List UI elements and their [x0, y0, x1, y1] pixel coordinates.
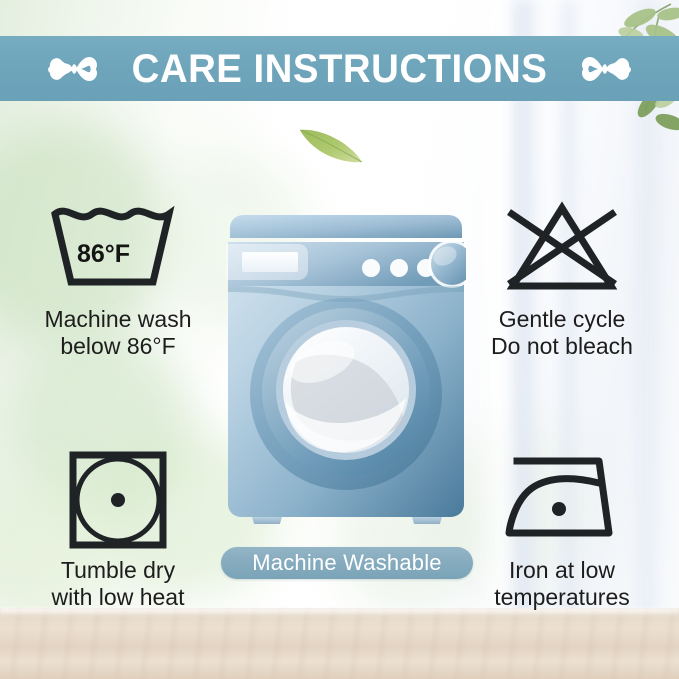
care-symbol-caption: Machine wash below 86°F	[44, 306, 191, 360]
care-symbol-machine-wash: 86°F Machine wash below 86°F	[8, 196, 228, 360]
caption-line-1: Gentle cycle	[499, 306, 626, 332]
caption-line-1: Tumble dry	[61, 557, 175, 583]
wash-temperature-value: 86°F	[77, 240, 130, 269]
tumble-dry-square-icon	[43, 447, 193, 551]
wooden-table-surface	[0, 608, 679, 679]
care-symbol-caption: Gentle cycle Do not bleach	[491, 306, 633, 360]
crossed-triangle-icon	[487, 196, 637, 300]
caption-line-2: temperatures	[494, 584, 630, 611]
fleur-de-lis-icon	[574, 47, 632, 91]
care-symbol-do-not-bleach: Gentle cycle Do not bleach	[452, 196, 672, 360]
care-symbol-tumble-dry: Tumble dry with low heat	[8, 447, 228, 611]
washing-machine-illustration	[226, 212, 466, 524]
badge-label: Machine Washable	[252, 550, 441, 576]
care-symbol-caption: Tumble dry with low heat	[52, 557, 185, 611]
care-symbol-caption: Iron at low temperatures	[494, 557, 630, 611]
leaf-icon	[296, 120, 368, 170]
iron-icon	[487, 447, 637, 551]
care-symbol-iron-low: Iron at low temperatures	[452, 447, 672, 611]
caption-line-1: Machine wash	[44, 306, 191, 332]
header-banner: CARE INSTRUCTIONS	[0, 36, 679, 101]
wash-tub-icon: 86°F	[43, 196, 193, 300]
caption-line-2: with low heat	[52, 584, 185, 611]
care-instructions-infographic: CARE INSTRUCTIONS	[0, 0, 679, 679]
caption-line-2: Do not bleach	[491, 333, 633, 360]
caption-line-1: Iron at low	[509, 557, 615, 583]
page-title: CARE INSTRUCTIONS	[132, 49, 548, 89]
machine-washable-badge: Machine Washable	[221, 547, 473, 579]
fleur-de-lis-icon	[47, 47, 105, 91]
wood-grain-texture	[0, 608, 679, 679]
caption-line-2: below 86°F	[44, 333, 191, 360]
